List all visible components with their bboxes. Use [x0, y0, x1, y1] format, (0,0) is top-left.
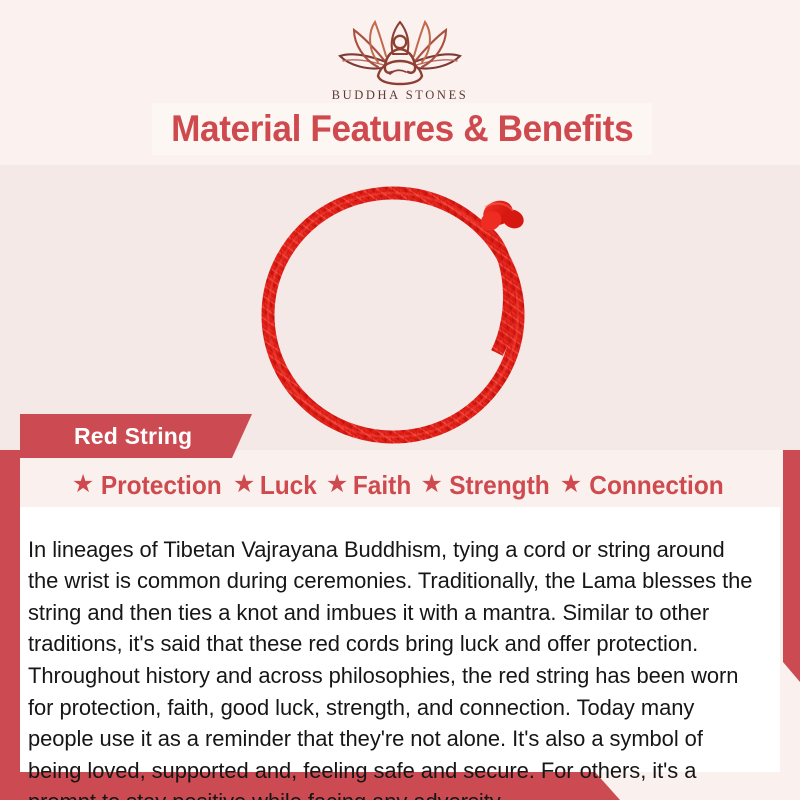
star-icon: ★ [326, 472, 348, 497]
description-text: In lineages of Tibetan Vajrayana Buddhis… [28, 534, 757, 800]
description-panel: In lineages of Tibetan Vajrayana Buddhis… [20, 507, 780, 772]
red-braided-cord-bracelet [245, 157, 555, 457]
infographic-card: BUDDHA STONES Material Features & Benefi… [0, 0, 800, 800]
benefit-item-connection: ★ Connection [560, 470, 728, 501]
benefit-item-luck: ★ Luck [233, 470, 319, 501]
product-photo-area [0, 165, 800, 450]
lotus-meditation-icon [334, 16, 466, 86]
product-name-ribbon: Red String [20, 414, 252, 458]
benefit-label: Faith [353, 470, 411, 501]
benefit-label: Connection [589, 470, 723, 501]
brand-logo: BUDDHA STONES [310, 16, 490, 103]
star-icon: ★ [72, 472, 94, 497]
header-section: BUDDHA STONES Material Features & Benefi… [0, 0, 800, 165]
ribbon-label: Red String [74, 423, 192, 450]
benefit-label: Protection [101, 470, 222, 501]
benefit-label: Luck [260, 470, 317, 501]
star-icon: ★ [560, 472, 582, 497]
benefit-item-strength: ★ Strength [420, 470, 552, 501]
benefit-label: Strength [449, 470, 549, 501]
benefit-item-faith: ★ Faith [326, 470, 414, 501]
page-title: Material Features & Benefits [171, 108, 633, 150]
star-icon: ★ [420, 472, 442, 497]
benefits-row: ★ Protection ★ Luck ★ Faith ★ Strength ★… [0, 463, 800, 507]
title-banner: Material Features & Benefits [152, 103, 652, 155]
star-icon: ★ [233, 472, 255, 497]
benefit-item-protection: ★ Protection [72, 470, 226, 501]
brand-name: BUDDHA STONES [310, 88, 490, 103]
